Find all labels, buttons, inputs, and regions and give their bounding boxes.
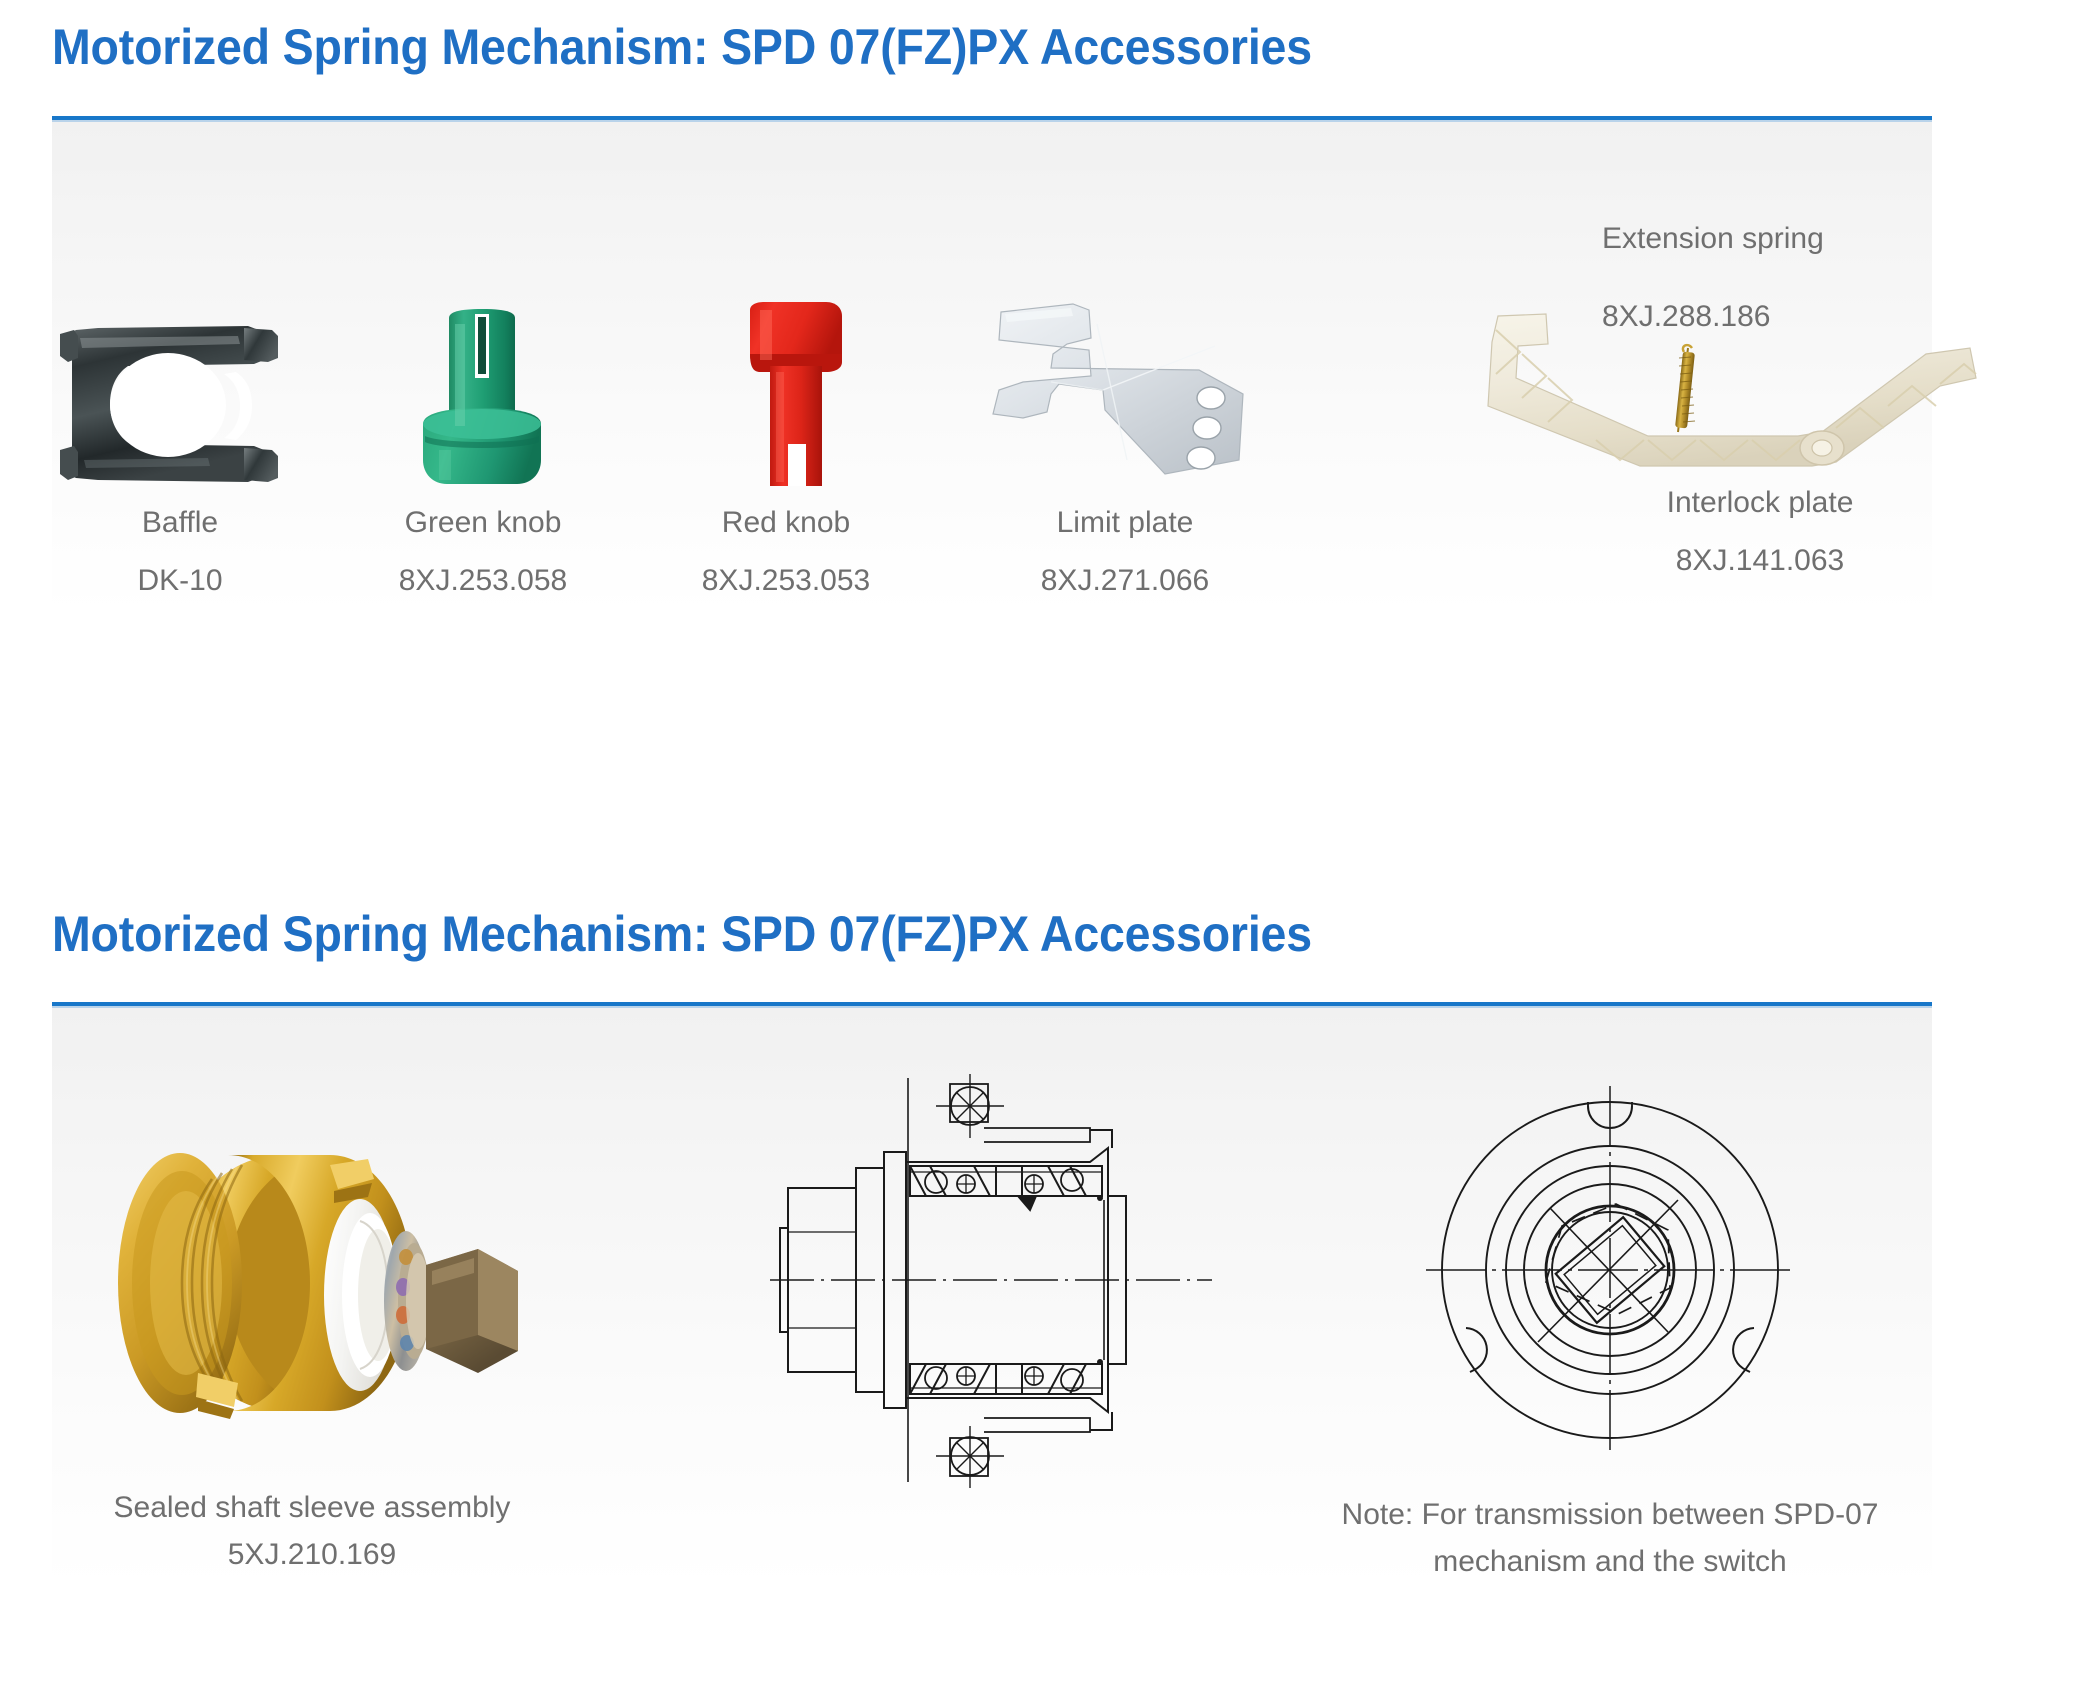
section-divider-top (52, 116, 1932, 120)
shaft-sleeve-end-view-drawing (1290, 1070, 1930, 1470)
item-sealed-shaft-sleeve: Sealed shaft sleeve assembly 5XJ.210.169 (42, 1085, 582, 1578)
part-interlock-plate: Interlock plate 8XJ.141.063 (1480, 290, 2040, 576)
part-code: 8XJ.141.063 (1480, 546, 2040, 576)
part-label: Green knob (323, 508, 643, 538)
part-red-knob: Red knob 8XJ.253.053 (626, 290, 946, 596)
green-knob-icon (323, 290, 643, 500)
part-code: 8XJ.253.058 (323, 566, 643, 596)
part-baffle: Baffle DK-10 (20, 290, 340, 596)
item-code: 5XJ.210.169 (42, 1532, 582, 1579)
item-label: Sealed shaft sleeve assembly (42, 1485, 582, 1532)
shaft-sleeve-section-drawing (760, 1070, 1220, 1490)
note-line-2: mechanism and the switch (1290, 1539, 1930, 1586)
note-line-1: Note: For transmission between SPD-07 (1290, 1492, 1930, 1539)
sealed-shaft-sleeve-photo (42, 1085, 582, 1485)
part-limit-plate: Limit plate 8XJ.271.066 (925, 290, 1325, 596)
extension-spring-label: Extension spring (1602, 222, 1824, 256)
baffle-clip-icon (20, 290, 340, 500)
item-end-view-drawing: Note: For transmission between SPD-07 me… (1290, 1070, 1930, 1585)
section-heading-top: Motorized Spring Mechanism: SPD 07(FZ)PX… (52, 18, 1312, 76)
part-green-knob: Green knob 8XJ.253.058 (323, 290, 643, 596)
part-label: Interlock plate (1480, 488, 2040, 518)
section-heading-bottom: Motorized Spring Mechanism: SPD 07(FZ)PX… (52, 905, 1312, 963)
part-code: DK-10 (20, 566, 340, 596)
limit-plate-icon (925, 290, 1325, 500)
part-code: 8XJ.253.053 (626, 566, 946, 596)
part-label: Limit plate (925, 508, 1325, 538)
red-knob-icon (626, 290, 946, 500)
part-code: 8XJ.271.066 (925, 566, 1325, 596)
part-label: Red knob (626, 508, 946, 538)
part-label: Baffle (20, 508, 340, 538)
document-page: Motorized Spring Mechanism: SPD 07(FZ)PX… (0, 0, 2095, 1687)
interlock-plate-icon (1480, 290, 2040, 480)
item-section-drawing (760, 1070, 1220, 1490)
section-divider-bottom (52, 1002, 1932, 1006)
